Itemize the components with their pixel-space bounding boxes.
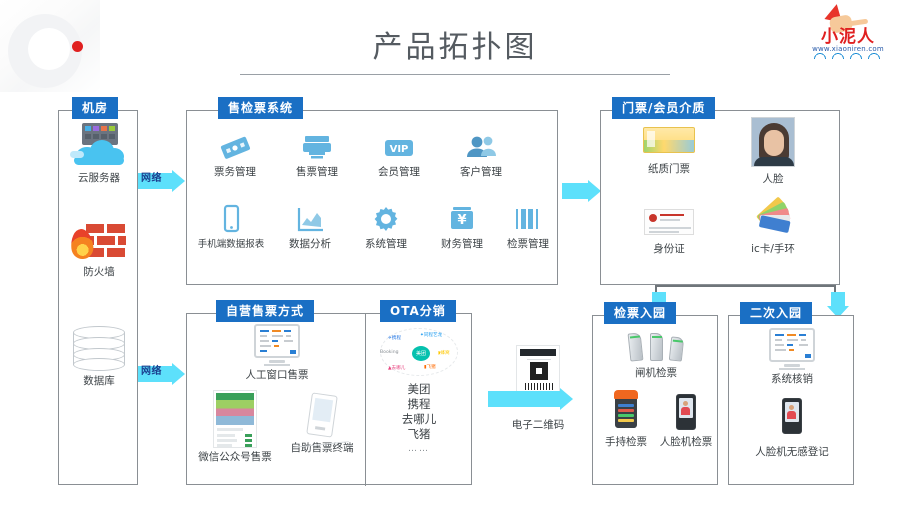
arrow-network-bottom: 网络 <box>138 363 185 385</box>
arrow-ticketing-to-media <box>562 180 601 202</box>
item-label: 会员管理 <box>359 166 439 179</box>
brand-url: www.xiaoniren.com <box>804 45 892 53</box>
qr-label: 电子二维码 <box>488 419 588 432</box>
item-wechat-sales[interactable]: 微信公众号售票 <box>189 390 281 464</box>
kiosk-icon <box>306 392 338 437</box>
item-self-service-kiosk[interactable]: 自助售票终端 <box>279 394 365 455</box>
ticket-icon <box>217 133 253 163</box>
desktop-icon <box>769 328 815 362</box>
handheld-pos-icon <box>615 394 637 428</box>
item-label: 人工窗口售票 <box>227 369 327 382</box>
panel-tab-check-in[interactable]: 检票入园 <box>604 302 676 324</box>
item-handheld-check[interactable]: 手持检票 <box>597 394 655 449</box>
turnstile-icon <box>606 330 706 364</box>
item-cloud-server[interactable]: 云服务器 <box>67 123 131 185</box>
item-label: 防火墙 <box>67 266 131 279</box>
item-label: 身份证 <box>619 243 719 256</box>
topology-diagram-page: 产品拓扑图 小泥人 www.xiaoniren.com 机房 <box>0 0 900 507</box>
face-terminal-icon <box>782 398 802 434</box>
item-turnstile[interactable]: 闸机检票 <box>606 330 706 380</box>
panel-tab-self-sales[interactable]: 自营售票方式 <box>216 300 314 322</box>
item-ticket-management[interactable]: 票务管理 <box>195 133 275 179</box>
paper-ticket-icon <box>643 127 695 153</box>
ota-partner: 飞猪 <box>367 427 471 442</box>
item-check-management[interactable]: 检票管理 <box>499 203 557 251</box>
users-icon <box>463 133 499 163</box>
item-label: 系统核销 <box>762 373 822 386</box>
item-finance-management[interactable]: ¥ 财务管理 <box>423 203 501 251</box>
item-label: 微信公众号售票 <box>189 451 281 464</box>
item-data-analysis[interactable]: 数据分析 <box>271 203 349 251</box>
item-label: 财务管理 <box>423 238 501 251</box>
item-id-card[interactable]: 身份证 <box>619 209 719 256</box>
item-label: 纸质门票 <box>619 163 719 176</box>
item-sales-management[interactable]: 售票管理 <box>277 133 357 179</box>
decor-circle-small <box>28 28 70 70</box>
ota-logos-icon: ✈携程 ✦同程艺龙 Booking 美团 ◗蜂窝 ▲去哪儿 ▮飞猪 <box>376 326 462 378</box>
panel-second-entry: 系统核销 人脸机无感登记 <box>728 315 854 485</box>
arrow-qr-to-checkin <box>488 388 573 410</box>
item-mobile-report[interactable]: 手机端数据报表 <box>189 203 273 251</box>
printer-icon <box>299 133 335 163</box>
item-label: 云服务器 <box>67 172 131 185</box>
database-icon <box>73 326 125 372</box>
panel-tab-ota[interactable]: OTA分销 <box>380 300 456 322</box>
item-label: 系统管理 <box>347 238 425 251</box>
item-label: ic卡/手环 <box>723 243 823 256</box>
brand-logo: 小泥人 www.xiaoniren.com <box>804 4 892 58</box>
connector-media-h <box>655 285 835 287</box>
item-label: 人脸 <box>723 173 823 186</box>
item-face-terminal-check[interactable]: 人脸机检票 <box>655 394 717 449</box>
arrow-label: 网络 <box>141 173 162 185</box>
item-label: 票务管理 <box>195 166 275 179</box>
panel-sales-channels: 人工窗口售票 微信公众号售票 自助售票终端 ✈携程 ✦同程 <box>186 313 472 485</box>
vip-icon: VIP <box>381 133 417 163</box>
item-label: 人脸机无感登记 <box>742 446 842 459</box>
item-label: 售票管理 <box>277 166 357 179</box>
gear-icon <box>370 203 402 235</box>
page-title: 产品拓扑图 <box>240 22 670 66</box>
panel-tab-second-entry[interactable]: 二次入园 <box>740 302 812 324</box>
panel-tab-server-room[interactable]: 机房 <box>72 97 118 119</box>
panel-ticket-media: 纸质门票 人脸 身份证 <box>600 110 840 285</box>
firewall-icon <box>71 219 127 263</box>
desktop-icon <box>254 324 300 358</box>
svg-text:VIP: VIP <box>390 144 409 155</box>
ota-partner-more: …… <box>367 442 471 457</box>
item-ota-partners[interactable]: ✈携程 ✦同程艺龙 Booking 美团 ◗蜂窝 ▲去哪儿 ▮飞猪 美团 携程 … <box>367 326 471 457</box>
decor-red-dot <box>72 41 83 52</box>
item-database[interactable]: 数据库 <box>67 326 131 388</box>
cloud-server-icon <box>68 123 130 169</box>
panel-ticketing-system: 票务管理 售票管理 VIP 会员管理 <box>186 110 558 285</box>
wave-icon <box>812 53 884 59</box>
item-manual-window-sales[interactable]: 人工窗口售票 <box>227 324 327 382</box>
ic-card-icon <box>748 205 798 235</box>
item-label: 人脸机检票 <box>655 436 717 449</box>
item-label: 手持检票 <box>597 436 655 449</box>
item-face[interactable]: 人脸 <box>723 117 823 186</box>
item-firewall[interactable]: 防火墙 <box>67 219 131 279</box>
arrow-label: 网络 <box>141 366 162 378</box>
wechat-poster-icon <box>213 390 257 448</box>
item-label: 手机端数据报表 <box>189 238 273 251</box>
item-label: 闸机检票 <box>606 367 706 380</box>
item-customer-management[interactable]: 客户管理 <box>441 133 521 179</box>
panel-divider <box>365 314 366 486</box>
bars-icon <box>512 203 544 235</box>
id-card-icon <box>644 209 694 235</box>
panel-tab-ticketing-system[interactable]: 售检票系统 <box>218 97 303 119</box>
ota-partner: 美团 <box>367 382 471 397</box>
arrow-network-top: 网络 <box>138 170 185 192</box>
item-face-noninductive-registration[interactable]: 人脸机无感登记 <box>742 398 842 459</box>
face-photo-icon <box>751 117 795 167</box>
item-label: 客户管理 <box>441 166 521 179</box>
panel-tab-ticket-media[interactable]: 门票/会员介质 <box>612 97 715 119</box>
panel-check-in: 闸机检票 手持检票 人脸机检票 <box>592 315 718 485</box>
item-member-management[interactable]: VIP 会员管理 <box>359 133 439 179</box>
ota-partner-list: 美团 携程 去哪儿 飞猪 …… <box>367 382 471 457</box>
chart-icon <box>294 203 326 235</box>
title-divider <box>240 74 670 75</box>
svg-text:¥: ¥ <box>457 213 466 228</box>
mobile-icon <box>215 203 247 235</box>
panel-server-room: 云服务器 防火墙 数据库 <box>58 110 138 485</box>
ota-partner: 携程 <box>367 397 471 412</box>
item-system-verification[interactable]: 系统核销 <box>762 328 822 386</box>
item-system-management[interactable]: 系统管理 <box>347 203 425 251</box>
page-title-block: 产品拓扑图 <box>240 22 670 75</box>
face-terminal-icon <box>676 394 696 430</box>
item-paper-ticket[interactable]: 纸质门票 <box>619 127 719 176</box>
yuan-book-icon: ¥ <box>446 203 478 235</box>
ota-partner: 去哪儿 <box>367 412 471 427</box>
item-label: 数据分析 <box>271 238 349 251</box>
brand-name: 小泥人 <box>804 28 892 46</box>
item-label: 数据库 <box>67 375 131 388</box>
item-ic-card[interactable]: ic卡/手环 <box>723 205 823 256</box>
item-label: 检票管理 <box>499 238 557 251</box>
